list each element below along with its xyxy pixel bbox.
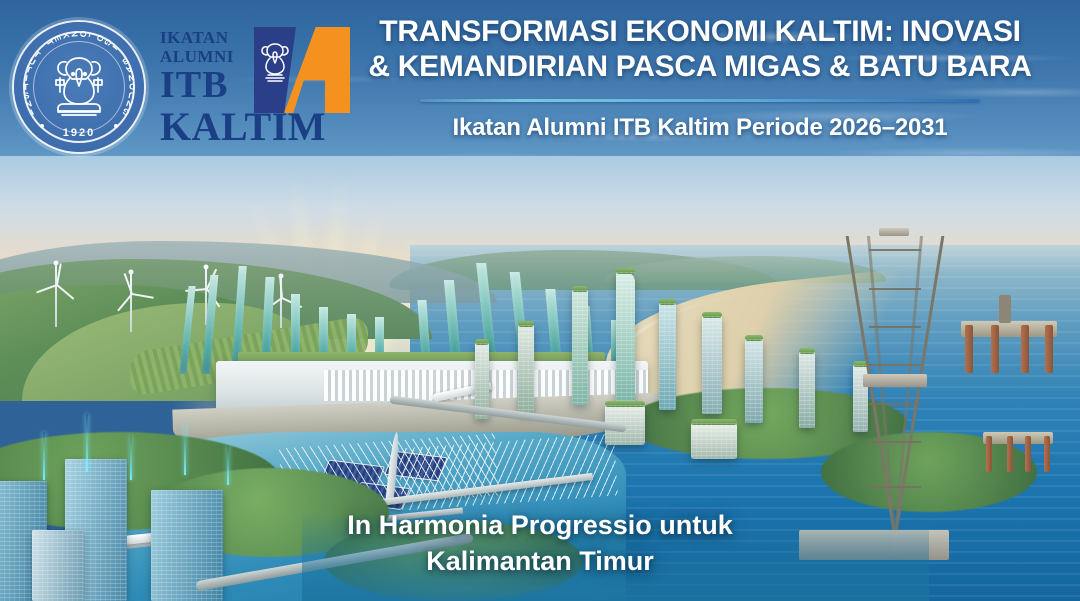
offshore-wellhead-platform [983,432,1053,472]
tagline-line1: In Harmonia Progressio untuk [180,508,900,544]
header-block: TRANSFORMASI EKONOMI KALTIM: INOVASI & K… [340,14,1060,142]
ikatan-alumni-itb-kaltim-logo: IKATAN ALUMNI ITB KALTIM [158,23,348,151]
title-divider [420,99,980,102]
wind-turbine-2 [119,272,143,332]
wind-turbine-1 [43,263,69,327]
ia-wordmark: IKATAN ALUMNI ITB [160,29,234,104]
ia-line-itb: ITB [160,66,234,104]
data-beacon-5 [227,445,229,485]
city-tower-1 [572,290,588,406]
data-beacon-3 [130,436,132,480]
ia-monogram [254,27,350,113]
city-tower-2 [616,272,635,405]
presentation-slide: INSTITUT TEKNOLOGI BANDUNG [0,0,1080,601]
ganesha-icon [260,39,290,83]
page-title-line2: & KEMANDIRIAN PASCA MIGAS & BATU BARA [340,49,1060,84]
data-beacon-4 [184,423,186,475]
city-block-low-2 [691,423,737,459]
seal-year: 1920 [14,127,144,139]
city-tower-8 [799,352,815,428]
tagline-line2: Kalimantan Timur [180,544,900,580]
ganesha-icon [46,48,112,118]
logo-group: INSTITUT TEKNOLOGI BANDUNG [14,22,348,152]
city-tower-4 [702,316,722,414]
data-beacon-2 [86,414,88,472]
city-tower-5 [518,325,534,414]
foreground-tower-3 [32,530,84,601]
page-title-line1: TRANSFORMASI EKONOMI KALTIM: INOVASI [340,14,1060,49]
city-tower-3 [659,303,676,410]
data-beacon-1 [43,432,45,480]
ia-line-ikatan: IKATAN [160,29,234,46]
itb-seal: INSTITUT TEKNOLOGI BANDUNG [14,22,144,152]
city-tower-7 [745,339,763,423]
page-subtitle: Ikatan Alumni ITB Kaltim Periode 2026–20… [340,114,1060,142]
ia-line-kaltim: KALTIM [160,107,326,147]
ia-line-alumni: ALUMNI [160,48,234,65]
offshore-oil-platform [961,321,1057,373]
tagline-block: In Harmonia Progressio untuk Kalimantan … [180,508,900,579]
